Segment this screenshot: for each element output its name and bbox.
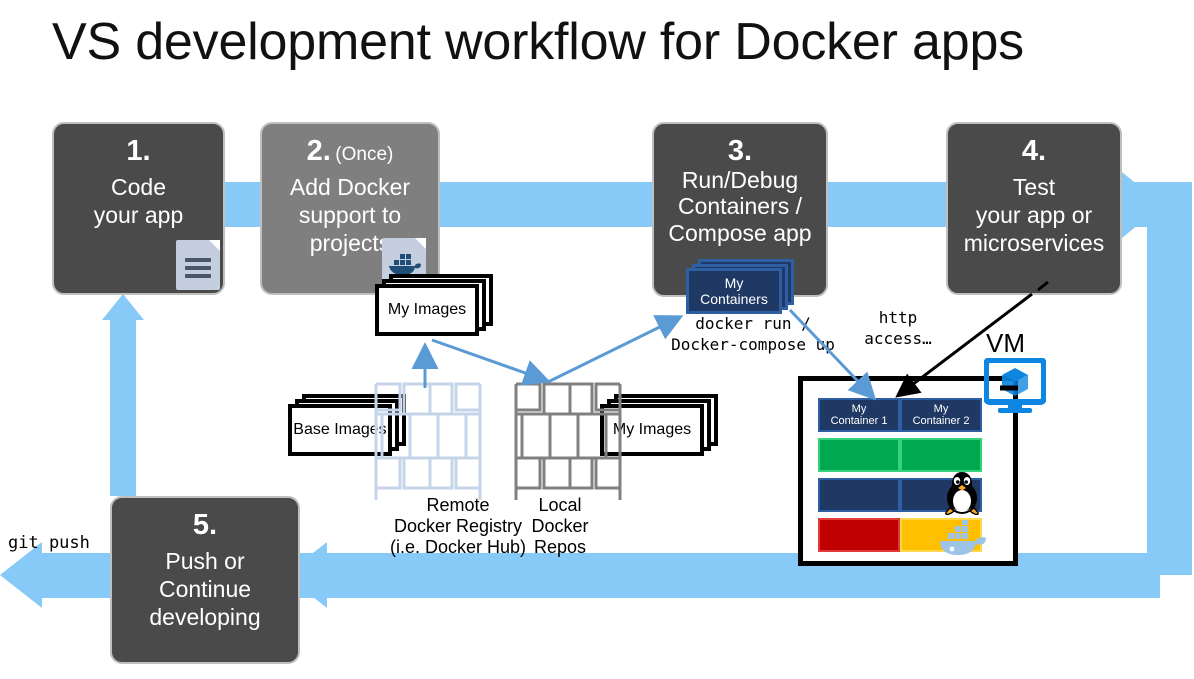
local-repos-shelf-icon: [508, 378, 628, 506]
diagram-canvas: VS development workflow for Docker apps …: [0, 0, 1194, 679]
step-4-number: 4.: [1022, 135, 1046, 167]
step-3-label: Run/Debug Containers / Compose app: [654, 167, 826, 247]
image-stack-my-images-top: My Images: [375, 284, 479, 336]
flow-band-up-to-step1: [110, 318, 136, 496]
remote-registry-shelf-icon: [368, 378, 488, 506]
vm-container-1-layer-navy: [818, 478, 900, 512]
step-5-label: Push or Continue developing: [112, 547, 298, 631]
step-1-number-row: 1.: [54, 136, 223, 167]
flow-band-right-vertical: [1147, 182, 1192, 575]
page-title: VS development workflow for Docker apps: [52, 12, 1024, 72]
docker-run-command-label: docker run / Docker-compose up: [648, 313, 858, 355]
vm-container-2-header: My Container 2: [900, 398, 982, 432]
document-file-icon: [176, 240, 220, 290]
vm-container-1-layer-green: [818, 438, 900, 472]
container-stack-my-containers: My Containers: [686, 268, 782, 314]
step-1-label: Code your app: [54, 173, 223, 229]
vm-label: VM: [986, 328, 1025, 359]
step-4-number-row: 4.: [948, 136, 1120, 167]
step-2-number-row: 2. (Once): [262, 136, 438, 167]
step-2-number: 2.: [307, 135, 331, 167]
linux-tux-icon: [940, 468, 984, 521]
step-3-number-row: 3.: [654, 136, 826, 167]
step-1-number: 1.: [126, 135, 150, 167]
vm-container-1-header: My Container 1: [818, 398, 900, 432]
docker-whale-icon: [936, 520, 990, 565]
image-card-label: My Images: [375, 284, 479, 336]
step-box-5[interactable]: 5. Push or Continue developing: [110, 496, 300, 664]
step-5-number: 5.: [193, 509, 217, 541]
container-card-label: My Containers: [686, 268, 782, 314]
step-4-label: Test your app or microservices: [948, 173, 1120, 257]
vm-container-column-1: My Container 1: [818, 398, 900, 558]
step-box-4[interactable]: 4. Test your app or microservices: [946, 122, 1122, 295]
local-repos-caption: Local Docker Repos: [500, 495, 620, 559]
flow-arrow-up-head: [102, 294, 144, 320]
document-lines: [185, 258, 211, 282]
step-2-suffix: (Once): [335, 144, 393, 165]
vm-monitor-icon: [984, 358, 1046, 419]
vm-container-1-layer-red: [818, 518, 900, 552]
step-3-number: 3.: [728, 135, 752, 167]
http-access-label: http access…: [852, 307, 944, 349]
git-push-label: git push: [8, 532, 128, 554]
arrow-my-images-to-local-repos: [432, 340, 545, 380]
vm-container-2-layer-green: [900, 438, 982, 472]
step-5-number-row: 5.: [112, 510, 298, 541]
